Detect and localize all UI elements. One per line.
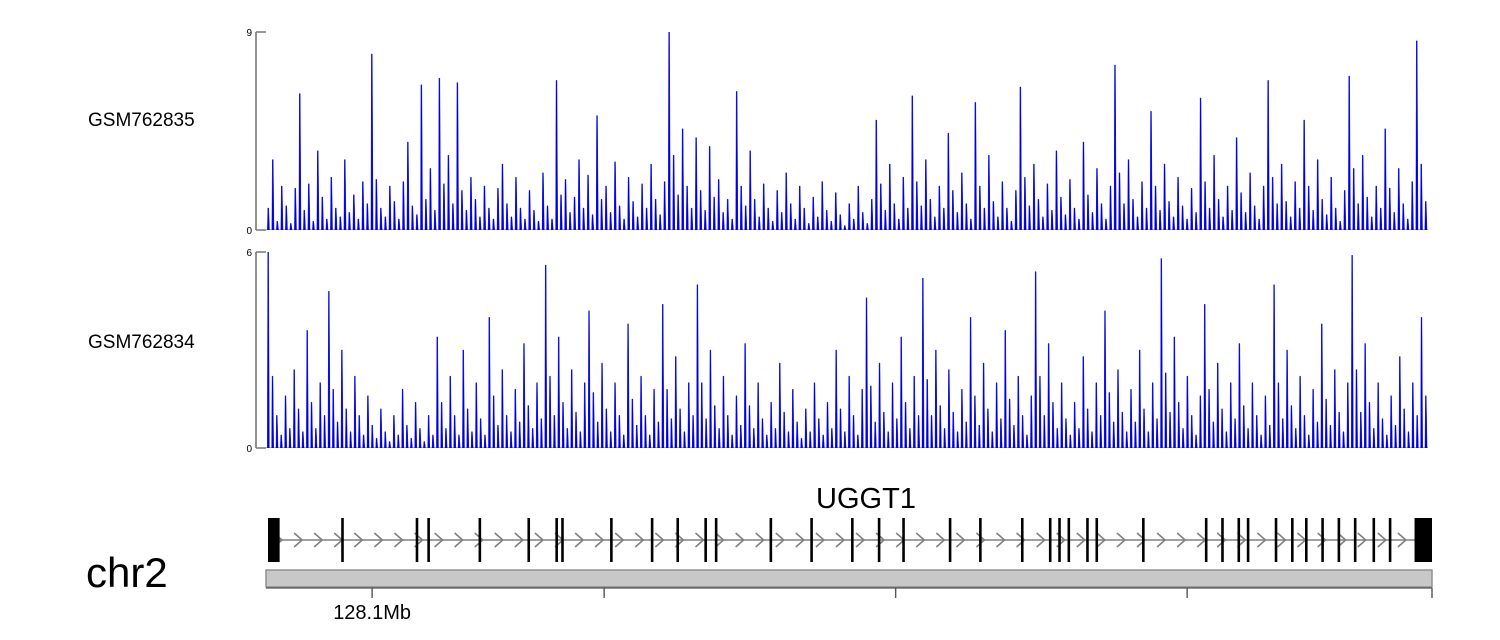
- gene-annotation-track[interactable]: UGGT1: [262, 478, 1437, 568]
- y-axis-min-label-track-2: 0: [246, 444, 252, 455]
- ruler-coordinate-label: 128.1Mb: [333, 602, 411, 624]
- genome-coordinate-ruler[interactable]: 128.1Mb: [262, 566, 1442, 636]
- y-axis-line: [256, 32, 266, 230]
- y-axis-line: [256, 252, 266, 448]
- coverage-track-gsm762835[interactable]: [266, 32, 1428, 230]
- gene-glyph-group: [268, 518, 1432, 562]
- track-label-gsm762835: GSM762835: [88, 110, 195, 132]
- coverage-track-gsm762834[interactable]: [266, 252, 1428, 448]
- coverage-area-track-2: [266, 252, 1428, 448]
- track-label-gsm762834: GSM762834: [88, 332, 195, 354]
- genome-browser-viewer: GSM762835 9 0 GSM762834 6 0 UGGT1: [0, 0, 1500, 640]
- chromosome-label: chr2: [86, 552, 168, 594]
- coverage-area-track-1: [266, 32, 1428, 230]
- exon-block: [268, 518, 280, 562]
- gene-name-label: UGGT1: [816, 483, 916, 515]
- y-axis-max-label-track-2: 6: [246, 248, 252, 259]
- y-axis-max-label-track-1: 9: [246, 28, 252, 39]
- ideogram-bar: [266, 570, 1432, 587]
- y-axis-min-label-track-1: 0: [246, 226, 252, 237]
- exon-block: [1415, 518, 1432, 562]
- ruler-tick-group: [266, 588, 1432, 598]
